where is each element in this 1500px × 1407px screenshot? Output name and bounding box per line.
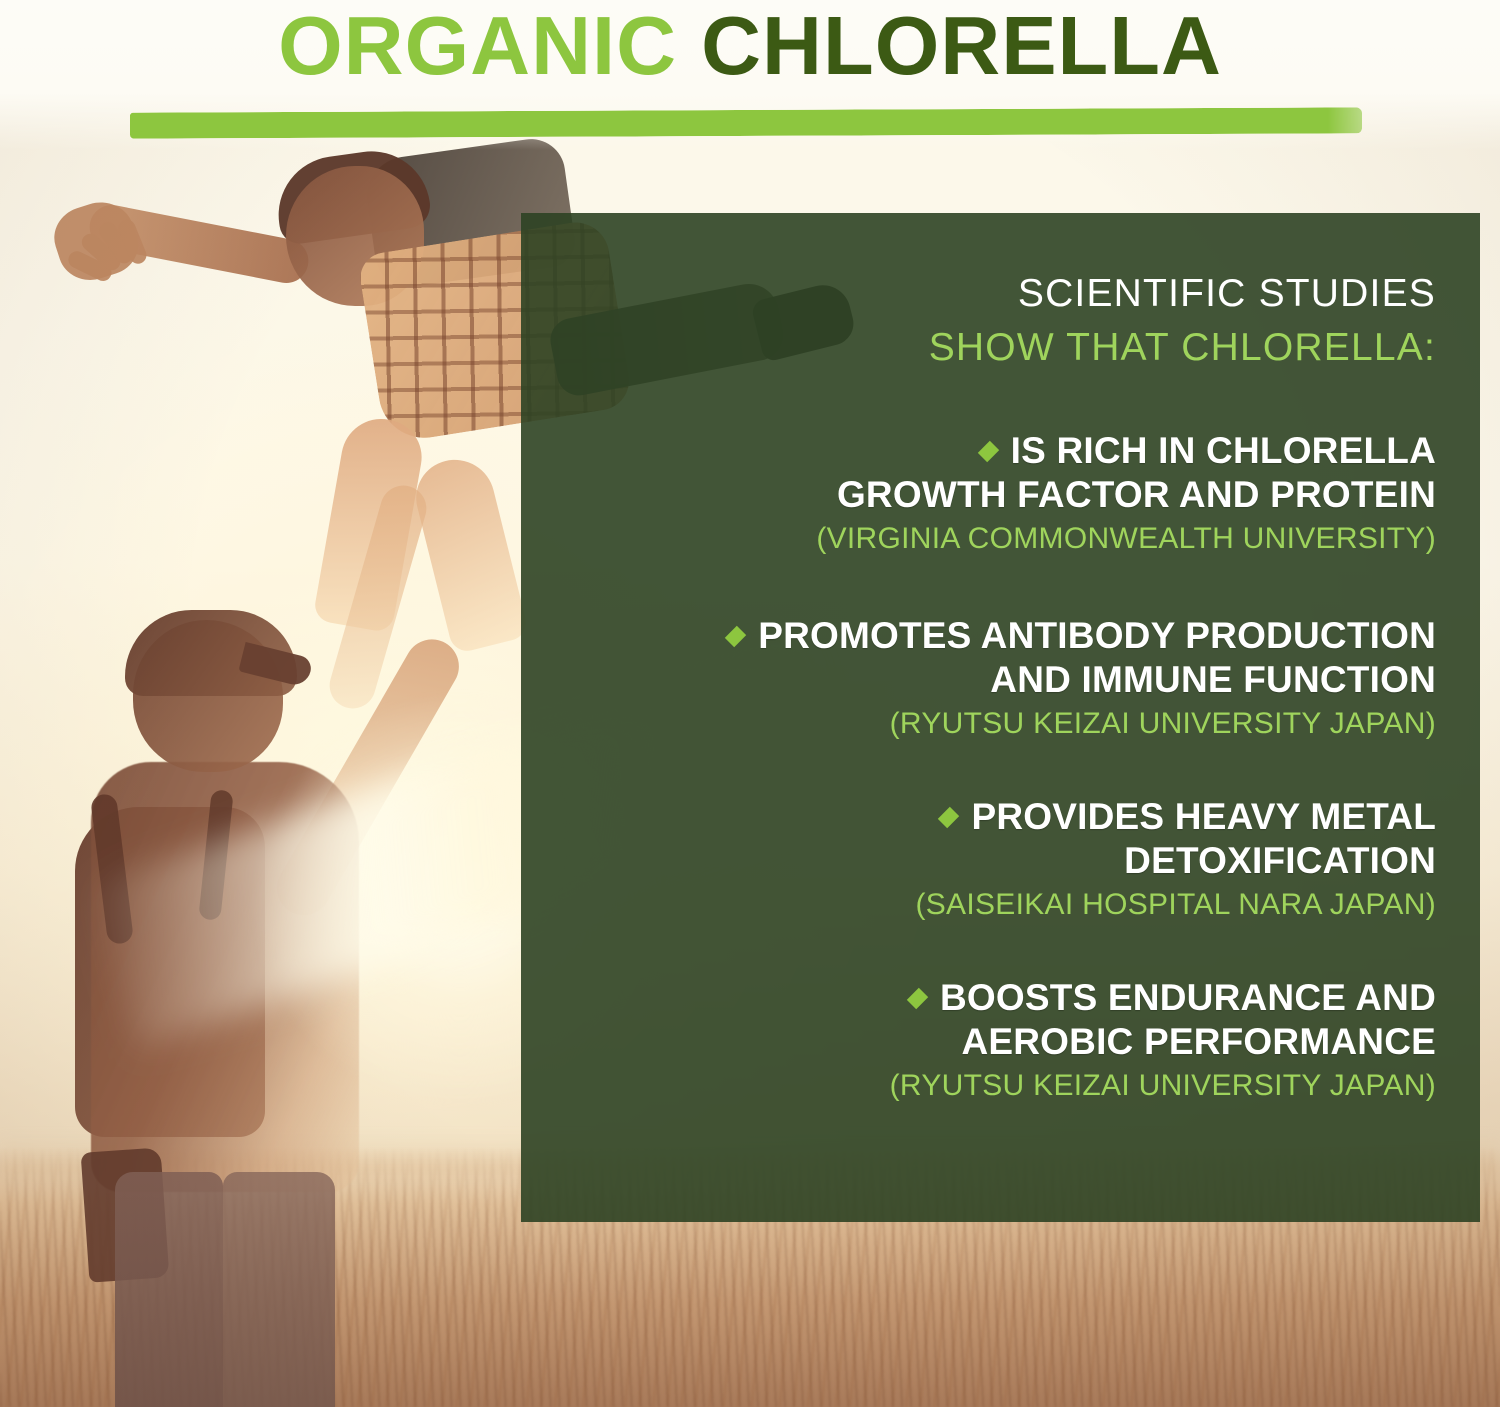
claim-text: IS RICH IN CHLORELLA GROWTH FACTOR AND P… <box>565 429 1436 517</box>
header-band: ORGANIC CHLORELLA <box>0 0 1500 150</box>
title-word-chlorella: CHLORELLA <box>701 0 1222 92</box>
brush-stroke-accent <box>130 107 1362 138</box>
diamond-bullet-icon <box>907 988 928 1009</box>
claim-line-2: GROWTH FACTOR AND PROTEIN <box>837 474 1436 515</box>
diamond-bullet-icon <box>977 441 998 462</box>
panel-heading-line1: SCIENTIFIC STUDIES <box>565 269 1436 319</box>
claim-line-2: AND IMMUNE FUNCTION <box>990 659 1436 700</box>
claim-line-2: DETOXIFICATION <box>1124 840 1436 881</box>
scientific-studies-panel: SCIENTIFIC STUDIES SHOW THAT CHLORELLA: … <box>521 213 1480 1222</box>
claim-citation: (RYUTSU KEIZAI UNIVERSITY JAPAN) <box>565 705 1436 743</box>
claim-line-1: PROMOTES ANTIBODY PRODUCTION <box>758 615 1436 656</box>
claim-citation: (VIRGINIA COMMONWEALTH UNIVERSITY) <box>565 520 1436 558</box>
page-title: ORGANIC CHLORELLA <box>0 0 1500 94</box>
claim-item: PROMOTES ANTIBODY PRODUCTION AND IMMUNE … <box>565 614 1436 743</box>
claim-text: BOOSTS ENDURANCE AND AEROBIC PERFORMANCE <box>565 976 1436 1064</box>
title-word-organic: ORGANIC <box>278 0 677 92</box>
claim-line-1: BOOSTS ENDURANCE AND <box>940 977 1436 1018</box>
claim-item: PROVIDES HEAVY METAL DETOXIFICATION (SAI… <box>565 795 1436 924</box>
claim-item: IS RICH IN CHLORELLA GROWTH FACTOR AND P… <box>565 429 1436 558</box>
diamond-bullet-icon <box>725 626 746 647</box>
claim-line-1: PROVIDES HEAVY METAL <box>971 796 1436 837</box>
claim-citation: (SAISEIKAI HOSPITAL NARA JAPAN) <box>565 886 1436 924</box>
claim-line-2: AEROBIC PERFORMANCE <box>961 1021 1436 1062</box>
title-space <box>677 0 701 92</box>
claim-line-1: IS RICH IN CHLORELLA <box>1011 430 1436 471</box>
product-infographic: ORGANIC CHLORELLA SCIENTIFIC STUDIES SHO… <box>0 0 1500 1407</box>
panel-heading-line2: SHOW THAT CHLORELLA: <box>565 323 1436 373</box>
diamond-bullet-icon <box>938 807 959 828</box>
claim-text: PROVIDES HEAVY METAL DETOXIFICATION <box>565 795 1436 883</box>
claims-list: IS RICH IN CHLORELLA GROWTH FACTOR AND P… <box>565 429 1436 1105</box>
claim-citation: (RYUTSU KEIZAI UNIVERSITY JAPAN) <box>565 1067 1436 1105</box>
claim-text: PROMOTES ANTIBODY PRODUCTION AND IMMUNE … <box>565 614 1436 702</box>
panel-heading: SCIENTIFIC STUDIES SHOW THAT CHLORELLA: <box>565 257 1436 373</box>
claim-item: BOOSTS ENDURANCE AND AEROBIC PERFORMANCE… <box>565 976 1436 1105</box>
